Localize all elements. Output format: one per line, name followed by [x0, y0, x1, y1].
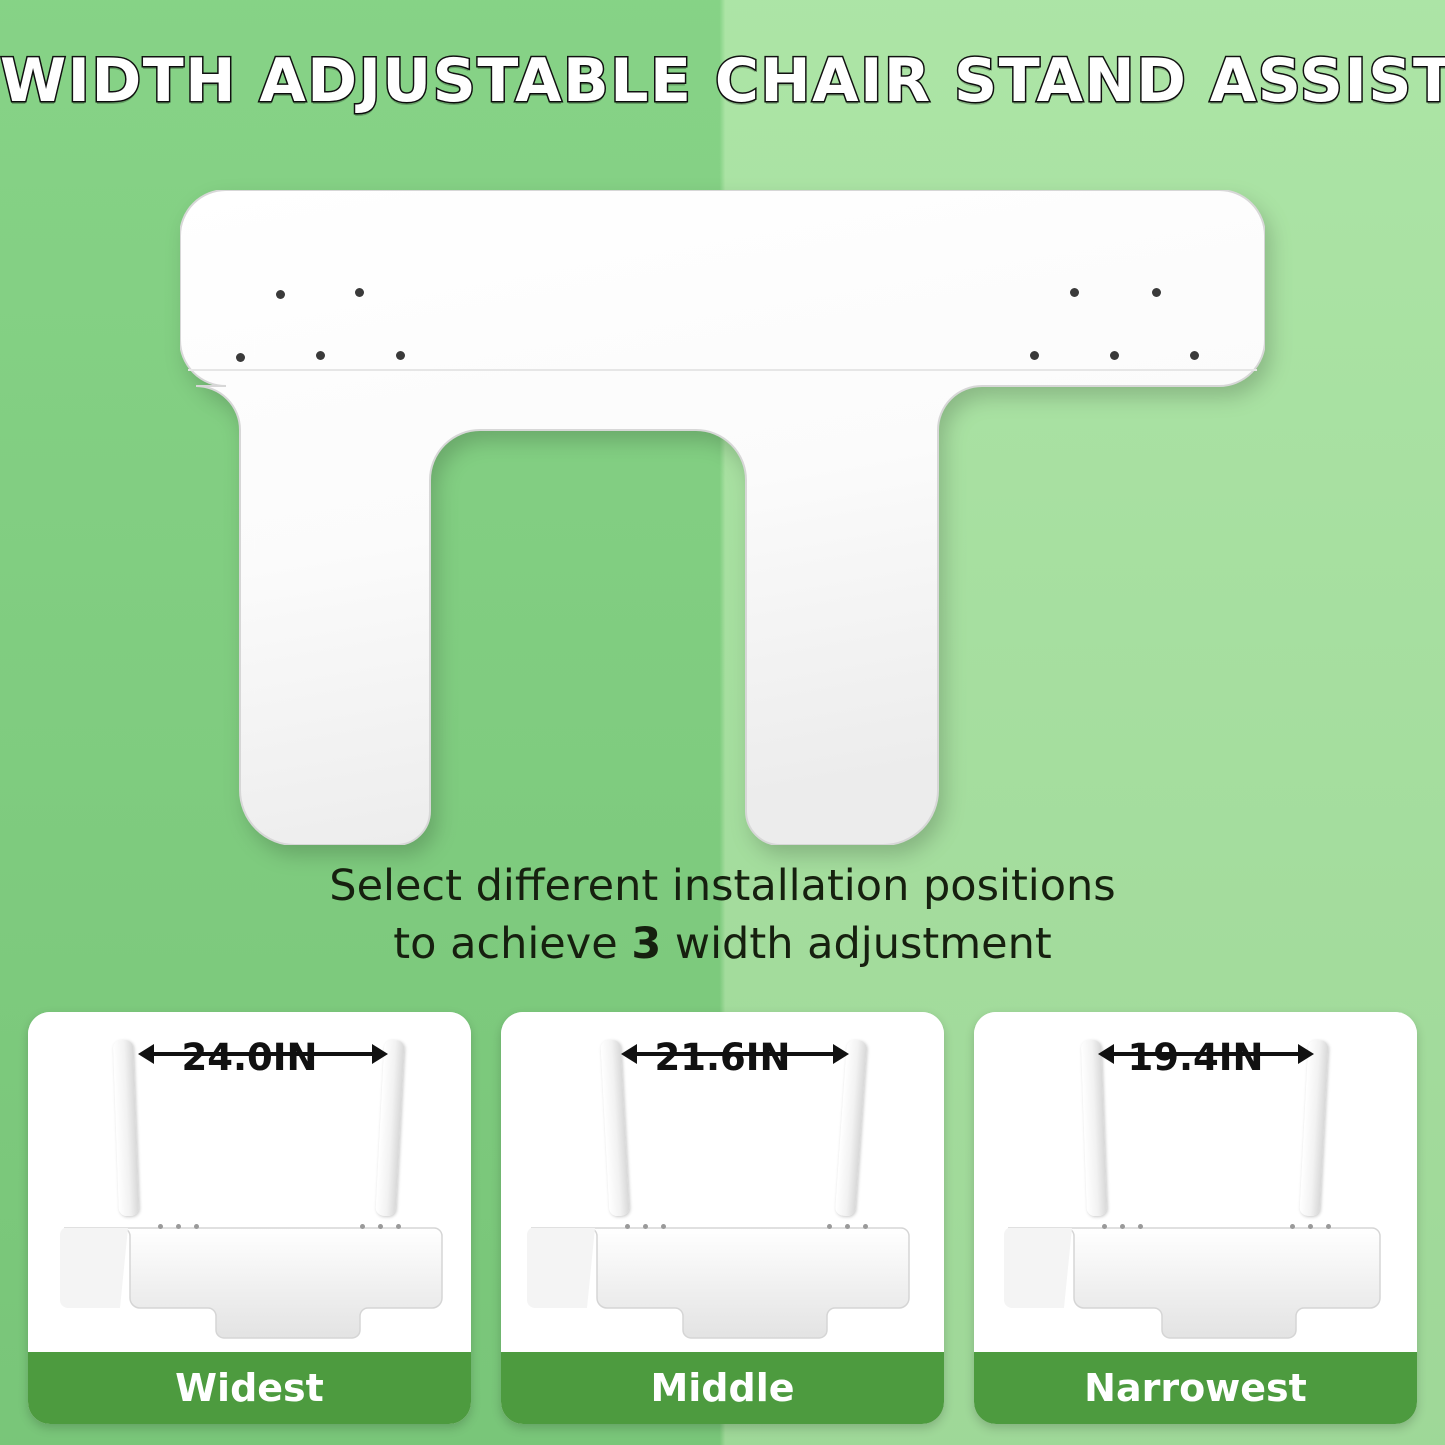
chair-stand-board-illustration [180, 190, 1265, 845]
card-label-narrowest: Narrowest [974, 1352, 1417, 1424]
caption-line-2: to achieve 3 width adjustment [0, 916, 1445, 974]
base-hole [396, 1224, 401, 1229]
base-plate [501, 1212, 944, 1352]
mounting-hole [276, 290, 285, 299]
adjustment-count: 3 [631, 919, 661, 969]
base-hole [1138, 1224, 1143, 1229]
card-photo-narrowest: 19.4IN [974, 1012, 1417, 1352]
dimension-label: 21.6IN [501, 1036, 944, 1079]
mounting-hole [396, 351, 405, 360]
card-widest[interactable]: 24.0IN [28, 1012, 471, 1424]
mounting-hole [1110, 351, 1119, 360]
base-hole [1308, 1224, 1313, 1229]
base-hole [360, 1224, 365, 1229]
dimension-label: 19.4IN [974, 1036, 1417, 1079]
base-hole [661, 1224, 666, 1229]
caption-line-2-after: width adjustment [661, 919, 1051, 969]
caption-line-1: Select different installation positions [0, 858, 1445, 916]
base-hole [625, 1224, 630, 1229]
mounting-hole [316, 351, 325, 360]
page-title: WIDTH ADJUSTABLE CHAIR STAND ASSIST [0, 46, 1445, 116]
card-middle[interactable]: 21.6IN [501, 1012, 944, 1424]
dimension-label: 24.0IN [28, 1036, 471, 1079]
mounting-hole [1152, 288, 1161, 297]
caption-line-2-before: to achieve [393, 919, 631, 969]
card-label-middle: Middle [501, 1352, 944, 1424]
base-hole [643, 1224, 648, 1229]
mounting-hole [1030, 351, 1039, 360]
base-hole [1326, 1224, 1331, 1229]
mounting-hole [355, 288, 364, 297]
card-narrowest[interactable]: 19.4IN [974, 1012, 1417, 1424]
base-hole [158, 1224, 163, 1229]
base-hole [1102, 1224, 1107, 1229]
base-hole [176, 1224, 181, 1229]
card-photo-middle: 21.6IN [501, 1012, 944, 1352]
card-label-widest: Widest [28, 1352, 471, 1424]
base-plate [974, 1212, 1417, 1352]
mounting-hole [236, 353, 245, 362]
board-shape [180, 190, 1265, 845]
base-hole [845, 1224, 850, 1229]
base-hole [194, 1224, 199, 1229]
base-hole [1290, 1224, 1295, 1229]
base-plate [28, 1212, 471, 1352]
mounting-hole [1190, 351, 1199, 360]
base-hole [827, 1224, 832, 1229]
card-photo-widest: 24.0IN [28, 1012, 471, 1352]
base-hole [378, 1224, 383, 1229]
mounting-hole [1070, 288, 1079, 297]
base-hole [863, 1224, 868, 1229]
width-option-cards: 24.0IN [28, 1012, 1417, 1424]
product-infographic: WIDTH ADJUSTABLE CHAIR STAND ASSIST [0, 0, 1445, 1445]
base-hole [1120, 1224, 1125, 1229]
caption-block: Select different installation positions … [0, 858, 1445, 973]
